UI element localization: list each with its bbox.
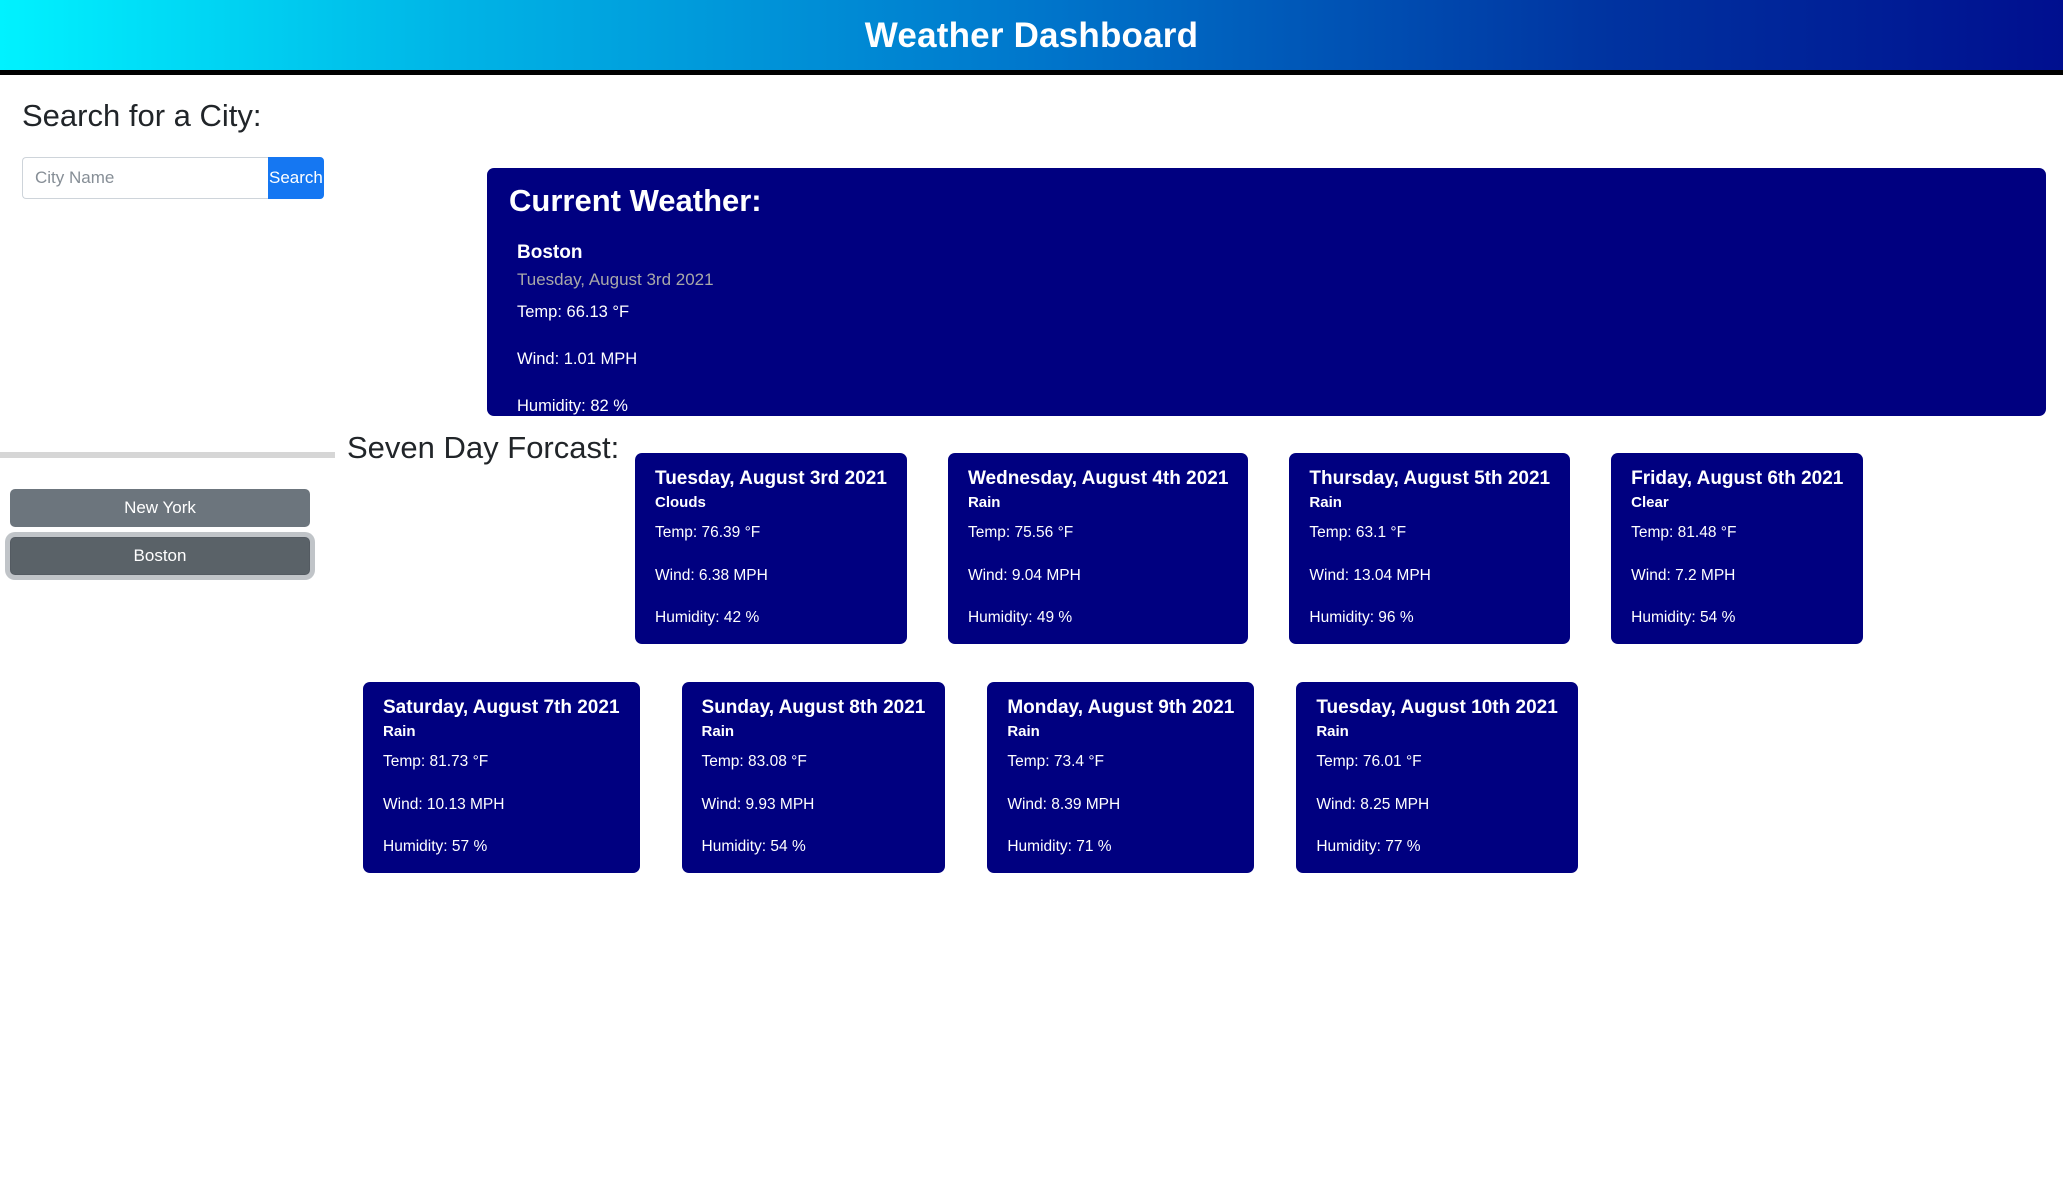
forecast-date: Tuesday, August 3rd 2021 bbox=[655, 467, 887, 491]
forecast-condition: Rain bbox=[702, 722, 926, 742]
forecast-condition: Rain bbox=[1007, 722, 1234, 742]
current-city-name: Boston bbox=[517, 241, 2024, 266]
page-title: Weather Dashboard bbox=[865, 18, 1198, 53]
forecast-condition: Clouds bbox=[655, 493, 887, 513]
forecast-temp: Temp: 76.39 °F bbox=[655, 524, 887, 543]
forecast-condition: Rain bbox=[383, 722, 620, 742]
forecast-heading: Seven Day Forcast: bbox=[347, 429, 619, 466]
forecast-temp: Temp: 76.01 °F bbox=[1316, 753, 1557, 772]
forecast-card: Thursday, August 5th 2021 Rain Temp: 63.… bbox=[1289, 453, 1570, 644]
search-input[interactable] bbox=[22, 157, 268, 199]
forecast-temp: Temp: 73.4 °F bbox=[1007, 753, 1234, 772]
forecast-card: Tuesday, August 10th 2021 Rain Temp: 76.… bbox=[1296, 682, 1577, 873]
forecast-condition: Rain bbox=[1316, 722, 1557, 742]
forecast-humidity: Humidity: 96 % bbox=[1309, 609, 1550, 628]
forecast-humidity: Humidity: 54 % bbox=[1631, 609, 1843, 628]
current-humidity: Humidity: 82 % bbox=[517, 397, 2024, 417]
forecast-wind: Wind: 9.04 MPH bbox=[968, 567, 1228, 586]
forecast-condition: Clear bbox=[1631, 493, 1843, 513]
forecast-humidity: Humidity: 57 % bbox=[383, 838, 620, 857]
forecast-row-1: Tuesday, August 3rd 2021 Clouds Temp: 76… bbox=[635, 453, 1863, 644]
forecast-humidity: Humidity: 54 % bbox=[702, 838, 926, 857]
forecast-humidity: Humidity: 42 % bbox=[655, 609, 887, 628]
forecast-condition: Rain bbox=[1309, 493, 1550, 513]
forecast-wind: Wind: 13.04 MPH bbox=[1309, 567, 1550, 586]
forecast-wind: Wind: 10.13 MPH bbox=[383, 796, 620, 815]
current-wind: Wind: 1.01 MPH bbox=[517, 350, 2024, 370]
search-heading: Search for a City: bbox=[22, 97, 345, 134]
forecast-temp: Temp: 81.73 °F bbox=[383, 753, 620, 772]
forecast-card: Sunday, August 8th 2021 Rain Temp: 83.08… bbox=[682, 682, 946, 873]
forecast-wind: Wind: 6.38 MPH bbox=[655, 567, 887, 586]
forecast-date: Thursday, August 5th 2021 bbox=[1309, 467, 1550, 491]
forecast-date: Tuesday, August 10th 2021 bbox=[1316, 696, 1557, 720]
forecast-temp: Temp: 63.1 °F bbox=[1309, 524, 1550, 543]
forecast-temp: Temp: 75.56 °F bbox=[968, 524, 1228, 543]
app-header: Weather Dashboard bbox=[0, 0, 2063, 70]
forecast-card: Friday, August 6th 2021 Clear Temp: 81.4… bbox=[1611, 453, 1863, 644]
forecast-date: Friday, August 6th 2021 bbox=[1631, 467, 1843, 491]
current-weather-panel: Current Weather: Boston Tuesday, August … bbox=[487, 168, 2046, 416]
forecast-card: Wednesday, August 4th 2021 Rain Temp: 75… bbox=[948, 453, 1248, 644]
forecast-date: Wednesday, August 4th 2021 bbox=[968, 467, 1228, 491]
forecast-wind: Wind: 8.39 MPH bbox=[1007, 796, 1234, 815]
forecast-card: Tuesday, August 3rd 2021 Clouds Temp: 76… bbox=[635, 453, 907, 644]
forecast-date: Saturday, August 7th 2021 bbox=[383, 696, 620, 720]
forecast-wind: Wind: 9.93 MPH bbox=[702, 796, 926, 815]
current-weather-title: Current Weather: bbox=[509, 182, 2024, 219]
search-button[interactable]: Search bbox=[268, 157, 324, 199]
forecast-wind: Wind: 8.25 MPH bbox=[1316, 796, 1557, 815]
current-date: Tuesday, August 3rd 2021 bbox=[517, 269, 2024, 291]
forecast-humidity: Humidity: 71 % bbox=[1007, 838, 1234, 857]
history-item-boston[interactable]: Boston bbox=[10, 537, 310, 575]
forecast-card: Monday, August 9th 2021 Rain Temp: 73.4 … bbox=[987, 682, 1254, 873]
sidebar: Search for a City: Search New York Bosto… bbox=[0, 75, 345, 134]
search-history-list: New York Boston bbox=[0, 489, 325, 585]
search-form: Search bbox=[22, 157, 322, 199]
page-body: Search for a City: Search New York Bosto… bbox=[0, 75, 2063, 1177]
forecast-wind: Wind: 7.2 MPH bbox=[1631, 567, 1843, 586]
forecast-temp: Temp: 83.08 °F bbox=[702, 753, 926, 772]
forecast-humidity: Humidity: 77 % bbox=[1316, 838, 1557, 857]
forecast-date: Sunday, August 8th 2021 bbox=[702, 696, 926, 720]
forecast-temp: Temp: 81.48 °F bbox=[1631, 524, 1843, 543]
forecast-humidity: Humidity: 49 % bbox=[968, 609, 1228, 628]
forecast-condition: Rain bbox=[968, 493, 1228, 513]
forecast-row-2: Saturday, August 7th 2021 Rain Temp: 81.… bbox=[363, 682, 1578, 873]
forecast-date: Monday, August 9th 2021 bbox=[1007, 696, 1234, 720]
history-item-new-york[interactable]: New York bbox=[10, 489, 310, 527]
sidebar-divider bbox=[0, 452, 335, 458]
forecast-card: Saturday, August 7th 2021 Rain Temp: 81.… bbox=[363, 682, 640, 873]
current-temp: Temp: 66.13 °F bbox=[517, 303, 2024, 323]
